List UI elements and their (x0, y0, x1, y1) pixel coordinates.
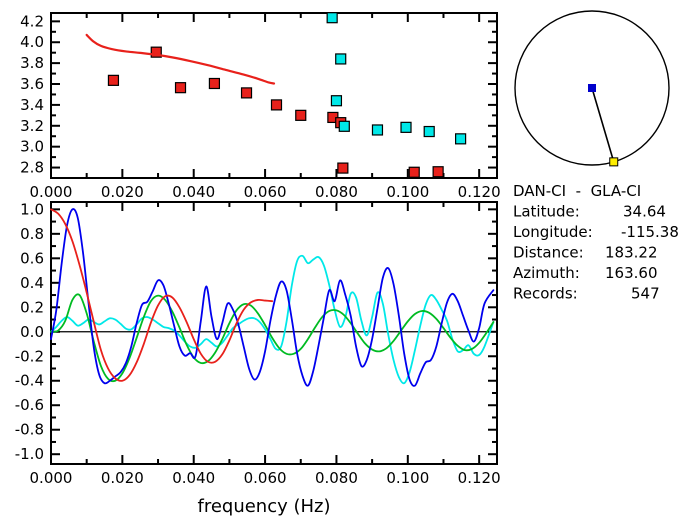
data-point-square (336, 54, 346, 64)
ytick-label: -0.8 (15, 421, 44, 439)
xtick-label: 0.040 (172, 183, 215, 201)
ytick-label: -0.4 (15, 372, 44, 390)
dispersion-frame (51, 13, 497, 178)
xtick-label: 0.080 (315, 469, 358, 487)
ytick-label: 4.0 (20, 33, 44, 51)
xtick-label: 0.120 (458, 469, 501, 487)
ytick-label: 0.6 (20, 249, 44, 267)
spectra-frame (51, 202, 497, 464)
xtick-label: 0.060 (244, 469, 287, 487)
xtick-label: 0.020 (101, 183, 144, 201)
narrowband-red (51, 209, 272, 381)
info-row-value: -115.38 (621, 223, 679, 241)
data-point-square (176, 83, 186, 93)
info-row-label: Longitude: (513, 223, 593, 241)
xtick-label: 0.100 (386, 183, 429, 201)
data-point-square (331, 96, 341, 106)
coherency-cyan (51, 256, 493, 384)
data-point-square (296, 110, 306, 120)
ytick-label: 0.0 (20, 323, 44, 341)
narrowband-green (51, 294, 493, 381)
dispersion-data (87, 13, 466, 178)
ytick-label: 1.0 (20, 200, 44, 218)
spectra-axes-box (51, 202, 497, 464)
ytick-label: -1.0 (15, 445, 44, 463)
dispersion-axes-box (51, 13, 497, 178)
ytick-label: 0.8 (20, 225, 44, 243)
reference-station-marker (588, 84, 596, 92)
data-point-square (372, 125, 382, 135)
xtick-label: 0.000 (30, 469, 73, 487)
xtick-label: 0.120 (458, 183, 501, 201)
ytick-label: 3.6 (20, 75, 44, 93)
data-point-square (209, 78, 219, 88)
data-point-square (456, 134, 466, 144)
info-row-value: 34.64 (623, 203, 666, 221)
station-pair-label: DAN-CI - GLA-CI (513, 182, 641, 200)
xtick-label: 0.080 (315, 183, 358, 201)
info-row-label: Latitude: (513, 203, 580, 221)
ytick-label: 0.4 (20, 274, 44, 292)
ytick-label: 3.4 (20, 96, 44, 114)
ytick-label: 2.8 (20, 159, 44, 177)
data-point-square (424, 127, 434, 137)
ytick-label: 0.2 (20, 298, 44, 316)
xtick-label: 0.100 (386, 469, 429, 487)
xtick-label: 0.000 (30, 183, 73, 201)
xtick-label: 0.020 (101, 469, 144, 487)
spectra-curves (51, 209, 493, 386)
data-point-square (242, 88, 252, 98)
info-row-value: 547 (631, 285, 660, 303)
figure-canvas: 0.0000.0200.0400.0600.0800.1000.1202.83.… (0, 0, 687, 519)
xaxis-label-group: frequency (Hz) (197, 496, 330, 517)
group-velocity-red (108, 47, 443, 177)
data-point-square (409, 167, 419, 177)
info-row-label: Distance: (513, 244, 584, 262)
data-point-square (433, 167, 443, 177)
data-point-square (327, 13, 337, 23)
spectra-ticks: 0.0000.0200.0400.0600.0800.1000.120-1.0-… (15, 200, 501, 487)
info-row-value: 163.60 (605, 264, 658, 282)
figure-root: 0.0000.0200.0400.0600.0800.1000.1202.83.… (0, 0, 687, 519)
stacked-ccf-blue (51, 209, 493, 386)
data-point-square (401, 122, 411, 132)
ytick-label: 3.0 (20, 138, 44, 156)
ytick-label: 3.2 (20, 117, 44, 135)
data-point-square (339, 121, 349, 131)
paired-station-marker (610, 158, 618, 166)
phase-velocity-cyan (327, 13, 465, 144)
ytick-label: -0.6 (15, 396, 44, 414)
x-axis-label: frequency (Hz) (197, 496, 330, 517)
data-point-square (271, 100, 281, 110)
ytick-label: 4.2 (20, 12, 44, 30)
data-point-square (338, 163, 348, 173)
info-row-label: Azimuth: (513, 264, 580, 282)
xtick-label: 0.040 (172, 469, 215, 487)
info-row-value: 183.22 (605, 244, 658, 262)
xtick-label: 0.060 (244, 183, 287, 201)
info-panel: DAN-CI - GLA-CILatitude:34.64Longitude:-… (513, 182, 679, 303)
azimuth-ray (592, 88, 614, 162)
ytick-label: 3.8 (20, 54, 44, 72)
ytick-label: -0.2 (15, 347, 44, 365)
data-point-square (108, 75, 118, 85)
azimuth-compass (515, 11, 669, 166)
info-row-label: Records: (513, 285, 578, 303)
